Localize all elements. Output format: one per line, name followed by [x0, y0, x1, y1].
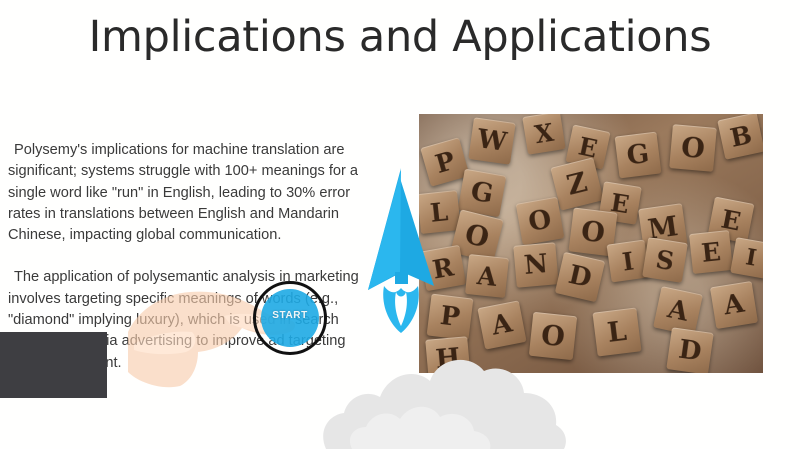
- scrabble-tile: A: [710, 281, 758, 329]
- start-button-label: START: [272, 310, 308, 321]
- scrabble-tile: O: [516, 197, 565, 246]
- scrabble-tile: A: [477, 300, 526, 349]
- scrabble-tile: L: [592, 307, 641, 356]
- scrabble-tile: I: [730, 237, 763, 279]
- scrabble-tile: D: [666, 327, 713, 373]
- presentation-slide: Implications and Applications PWXEGOBGZE…: [0, 0, 800, 449]
- scrabble-tile: E: [689, 230, 733, 274]
- body-paragraph-1: Polysemy's implications for machine tran…: [8, 140, 360, 246]
- smoke-cloud-icon: [318, 345, 568, 449]
- grey-rectangle-block: [0, 332, 107, 398]
- scrabble-tile: X: [522, 114, 565, 155]
- scrabble-tile: G: [615, 132, 662, 179]
- scrabble-tile: N: [513, 242, 559, 288]
- scrabble-tile: S: [642, 237, 688, 283]
- start-button[interactable]: START: [253, 281, 327, 355]
- scrabble-tile: B: [717, 114, 763, 160]
- page-title: Implications and Applications: [0, 12, 800, 62]
- scrabble-tile: O: [669, 124, 717, 172]
- scrabble-tile: A: [465, 254, 509, 298]
- scrabble-tile: W: [468, 117, 515, 164]
- blue-rocket: [360, 168, 440, 333]
- scrabble-letter-tiles-photo: PWXEGOBGZELOOOMERANDISEIPAOLAAHD: [419, 114, 763, 373]
